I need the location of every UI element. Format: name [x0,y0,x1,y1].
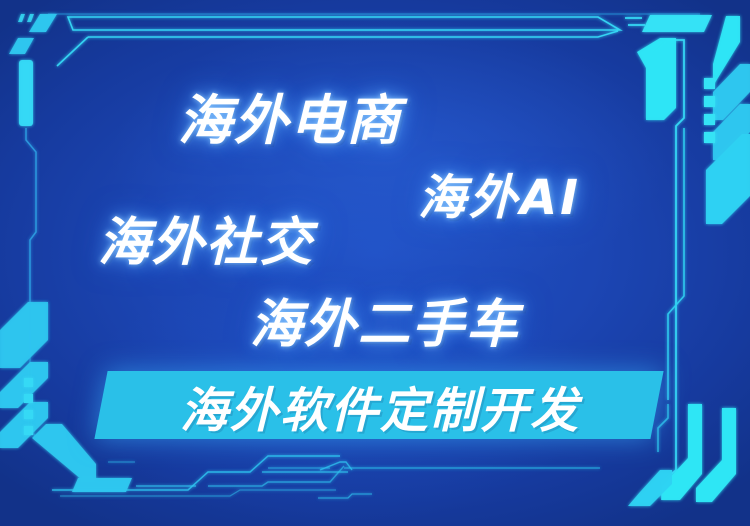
tech-banner: 海外电商 海外AI 海外社交 海外二手车 海外软件定制开发 [0,0,750,526]
headline-overseas-social: 海外社交 [98,200,314,275]
headline-overseas-ai: 海外AI [418,158,581,228]
headline-group: 海外电商 海外AI 海外社交 海外二手车 [0,0,750,526]
headline-overseas-used-cars: 海外二手车 [250,282,520,357]
headline-overseas-ecommerce: 海外电商 [178,76,402,155]
ribbon-label-software-development: 海外软件定制开发 [118,377,642,435]
